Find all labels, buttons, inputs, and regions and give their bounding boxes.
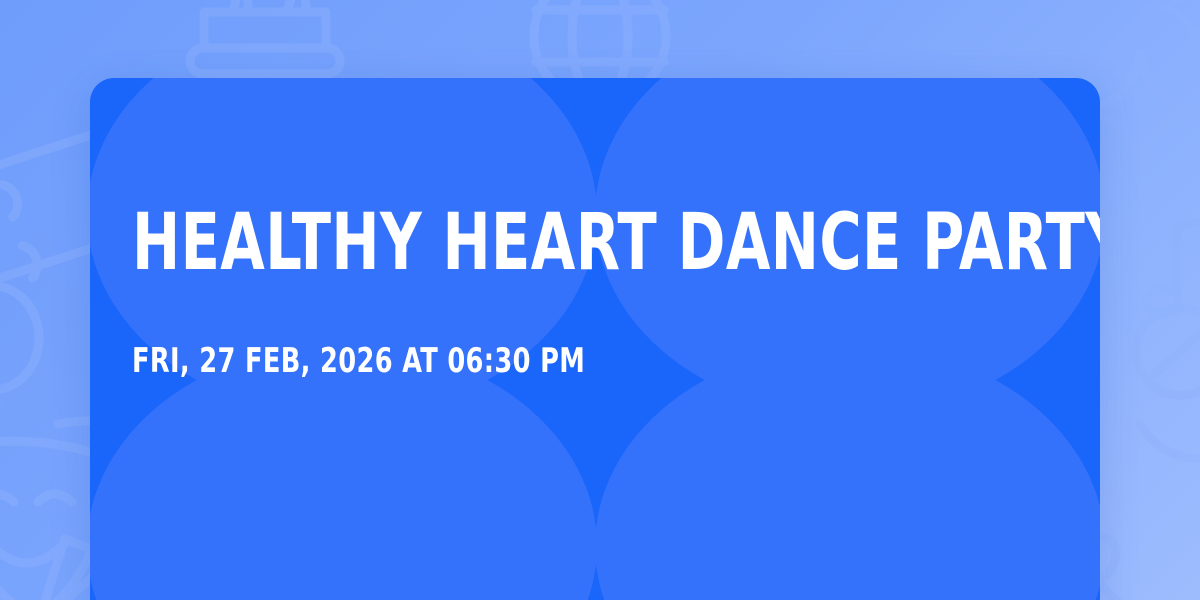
cake-icon [190, 0, 340, 74]
balloon-icon [0, 286, 39, 462]
event-card: Healthy Heart Dance Party Fri, 27 Feb, 2… [90, 78, 1100, 600]
music-note-icon [1146, 214, 1200, 315]
event-banner: Healthy Heart Dance Party Fri, 27 Feb, 2… [0, 0, 1200, 600]
sparkle-icon [1161, 0, 1200, 42]
event-datetime: Fri, 27 Feb, 2026 at 06:30 PM [132, 344, 585, 378]
microphone-icon [1118, 289, 1200, 459]
event-title: Healthy Heart Dance Party [132, 210, 1100, 277]
sparkle-icon [1084, 54, 1196, 170]
event-card-content: Healthy Heart Dance Party Fri, 27 Feb, 2… [132, 78, 1058, 600]
